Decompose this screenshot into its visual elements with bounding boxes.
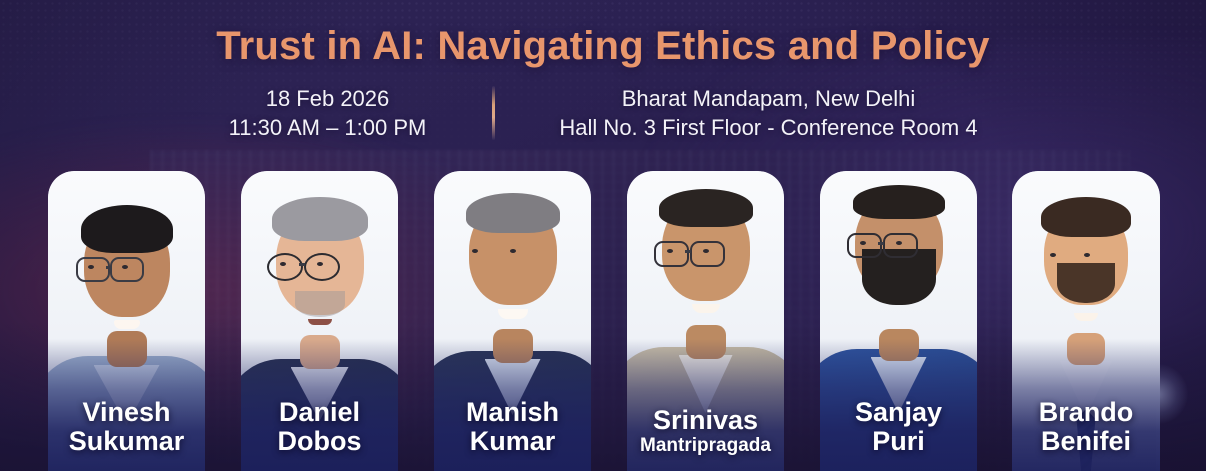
speaker-name: Srinivas Mantripragada (627, 406, 784, 457)
event-venue: Bharat Mandapam, New Delhi (509, 84, 1029, 113)
speaker-last-name: Puri (820, 427, 977, 457)
event-title: Trust in AI: Navigating Ethics and Polic… (0, 24, 1206, 69)
speaker-card[interactable]: Daniel Dobos (241, 171, 398, 471)
speaker-name: Sanjay Puri (820, 398, 977, 457)
event-date: 18 Feb 2026 (178, 84, 478, 113)
speaker-first-name: Vinesh (48, 398, 205, 428)
speaker-last-name: Dobos (241, 427, 398, 457)
speaker-first-name: Manish (434, 398, 591, 428)
event-room: Hall No. 3 First Floor - Conference Room… (509, 113, 1029, 142)
speaker-last-name: Sukumar (48, 427, 205, 457)
event-location: Bharat Mandapam, New Delhi Hall No. 3 Fi… (509, 84, 1029, 143)
speaker-first-name: Daniel (241, 398, 398, 428)
speaker-card[interactable]: Vinesh Sukumar (48, 171, 205, 471)
speaker-name: Brando Benifei (1012, 398, 1160, 457)
speaker-card[interactable]: Brando Benifei (1012, 171, 1160, 471)
speaker-name: Manish Kumar (434, 398, 591, 457)
speaker-list: Vinesh Sukumar D (0, 171, 1206, 471)
speaker-last-name: Kumar (434, 427, 591, 457)
meta-divider (492, 86, 495, 140)
speaker-first-name: Brando (1012, 398, 1160, 428)
event-banner: Trust in AI: Navigating Ethics and Polic… (0, 0, 1206, 471)
event-datetime: 18 Feb 2026 11:30 AM – 1:00 PM (178, 84, 478, 143)
event-time: 11:30 AM – 1:00 PM (178, 113, 478, 142)
speaker-card[interactable]: Manish Kumar (434, 171, 591, 471)
speaker-card[interactable]: Sanjay Puri (820, 171, 977, 471)
speaker-first-name: Srinivas (627, 406, 784, 436)
event-meta: 18 Feb 2026 11:30 AM – 1:00 PM Bharat Ma… (0, 84, 1206, 143)
speaker-last-name: Benifei (1012, 427, 1160, 457)
speaker-last-name: Mantripragada (627, 436, 784, 457)
speaker-first-name: Sanjay (820, 398, 977, 428)
speaker-card[interactable]: Srinivas Mantripragada (627, 171, 784, 471)
speaker-name: Daniel Dobos (241, 398, 398, 457)
banner-header: Trust in AI: Navigating Ethics and Polic… (0, 0, 1206, 170)
speaker-name: Vinesh Sukumar (48, 398, 205, 457)
